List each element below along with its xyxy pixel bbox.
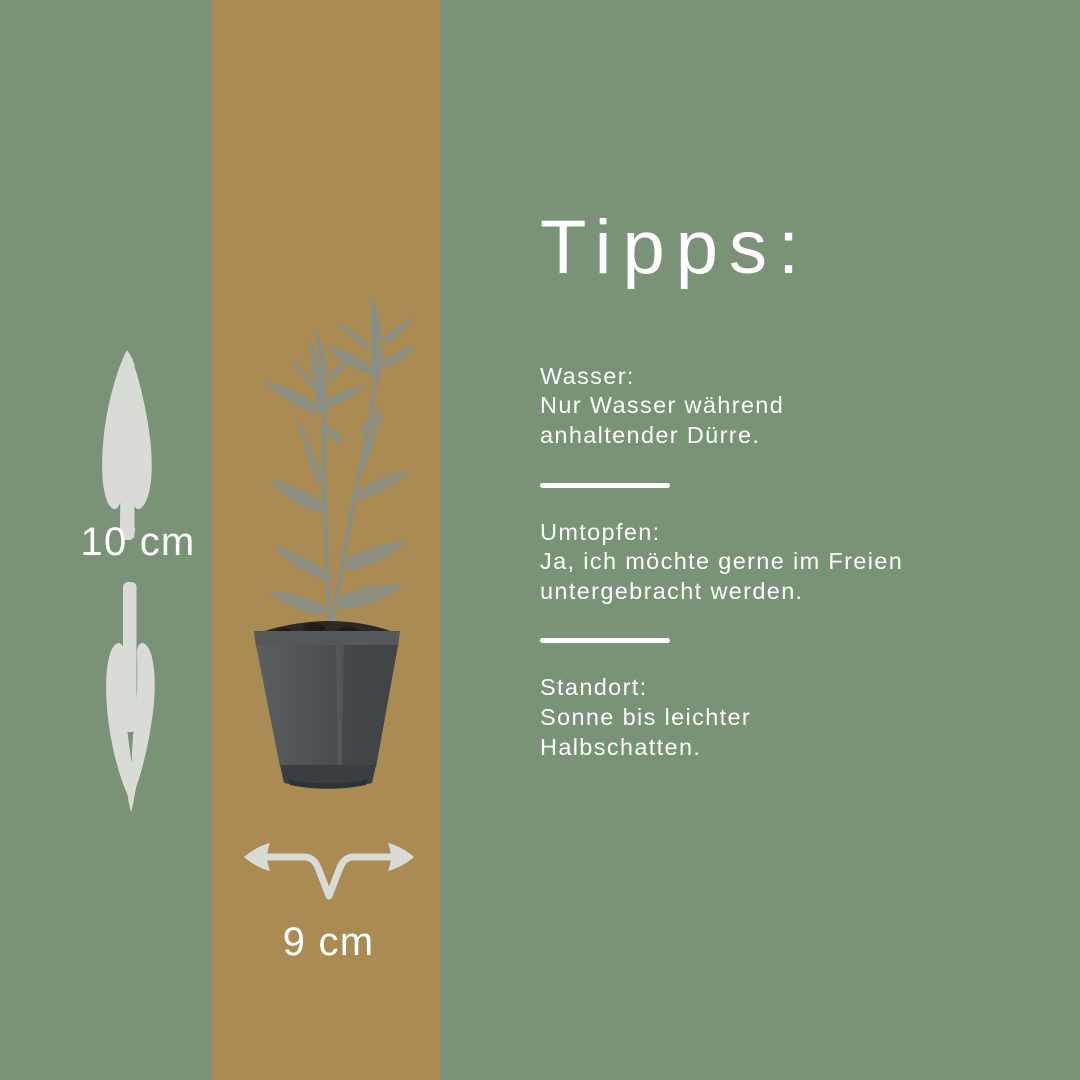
height-label: 10 cm [48,522,228,562]
tips-panel: Tipps: Wasser: Nur Wasser während anhalt… [540,208,1040,762]
width-label: 9 cm [236,922,421,962]
height-measure-group [60,330,210,820]
tip-line-wasser-1: Nur Wasser während [540,391,1040,421]
tip-divider-2 [540,638,670,643]
tip-block-standort: Standort: Sonne bis leichter Halbschatte… [540,673,1040,762]
potted-plant-photo [222,255,432,795]
tip-line-umtopfen-2: untergebracht werden. [540,577,1040,607]
width-measure-group [238,836,420,904]
tip-line-standort-2: Halbschatten. [540,733,1040,763]
tip-line-standort-1: Sonne bis leichter [540,703,1040,733]
tip-block-umtopfen: Umtopfen: Ja, ich möchte gerne im Freien… [540,518,1040,607]
tip-heading-standort: Standort: [540,673,1040,703]
infographic-canvas: 10 cm [0,0,1080,1080]
tip-heading-wasser: Wasser: [540,362,1040,392]
double-headed-vertical-arrow-icon [60,330,210,820]
tip-divider-1 [540,483,670,488]
page-title: Tipps: [540,208,1040,288]
tip-line-umtopfen-1: Ja, ich möchte gerne im Freien [540,547,1040,577]
tip-heading-umtopfen: Umtopfen: [540,518,1040,548]
double-headed-horizontal-arrow-icon [238,836,420,904]
tip-line-wasser-2: anhaltender Dürre. [540,421,1040,451]
tip-block-wasser: Wasser: Nur Wasser während anhaltender D… [540,362,1040,451]
